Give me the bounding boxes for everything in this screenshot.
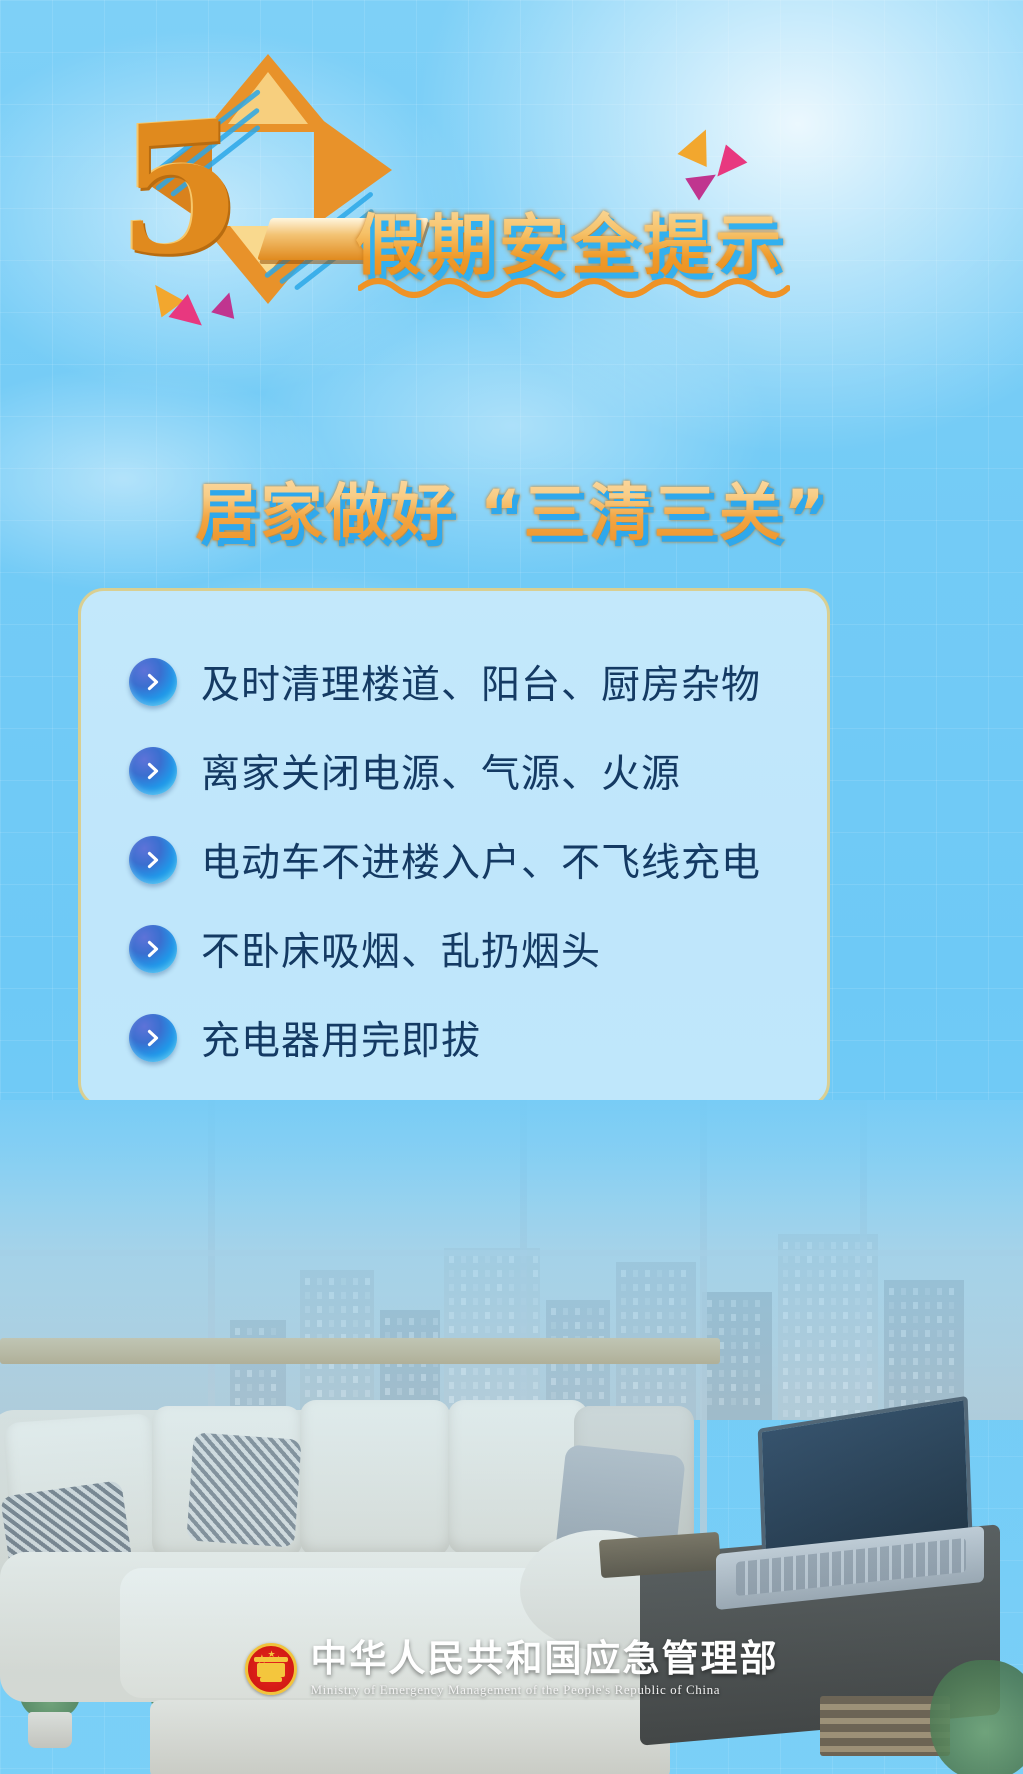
chevron-right-icon (129, 1014, 177, 1062)
confetti-icon (211, 289, 241, 319)
footer: ★ ★ ★ ★ ★ 中华人民共和国应急管理部 Ministry of Emerg… (0, 1640, 1023, 1698)
china-national-emblem-icon: ★ ★ ★ ★ ★ (245, 1643, 297, 1695)
list-item-label: 电动车不进楼入户、不飞线充电 (201, 832, 761, 888)
list-item: 充电器用完即拔 (129, 993, 787, 1082)
numeral-five: 5 (118, 96, 236, 282)
list-item: 电动车不进楼入户、不飞线充电 (129, 815, 787, 904)
chevron-right-icon (129, 925, 177, 973)
footer-org: 中华人民共和国应急管理部 Ministry of Emergency Manag… (311, 1640, 779, 1698)
emblem-gate (257, 1663, 285, 1677)
footer-org-cn: 中华人民共和国应急管理部 (311, 1640, 779, 1679)
chevron-right-icon (129, 658, 177, 706)
section-heading: 居家做好 “三清三关” (0, 462, 1023, 552)
chevron-right-icon (129, 747, 177, 795)
list-item-label: 充电器用完即拔 (201, 1010, 481, 1066)
wavy-underline-decor (358, 272, 790, 298)
list-item: 不卧床吸烟、乱扔烟头 (129, 904, 787, 993)
tips-panel: 及时清理楼道、阳台、厨房杂物 离家关闭电源、气源、火源 电动车不进楼入户、不飞线… (78, 588, 830, 1108)
hero-section: 5 假期安全提示 (0, 0, 1023, 360)
list-item-label: 及时清理楼道、阳台、厨房杂物 (201, 654, 761, 710)
list-item-label: 不卧床吸烟、乱扔烟头 (201, 921, 601, 977)
chevron-right-icon (129, 836, 177, 884)
list-item-label: 离家关闭电源、气源、火源 (201, 743, 681, 799)
list-item: 离家关闭电源、气源、火源 (129, 726, 787, 815)
footer-org-en: Ministry of Emergency Management of the … (311, 1682, 779, 1698)
poster-root: 5 假期安全提示 居家做好 “三清三关” 及时清理楼道、阳台、厨房杂物 (0, 0, 1023, 1774)
list-item: 及时清理楼道、阳台、厨房杂物 (129, 637, 787, 726)
